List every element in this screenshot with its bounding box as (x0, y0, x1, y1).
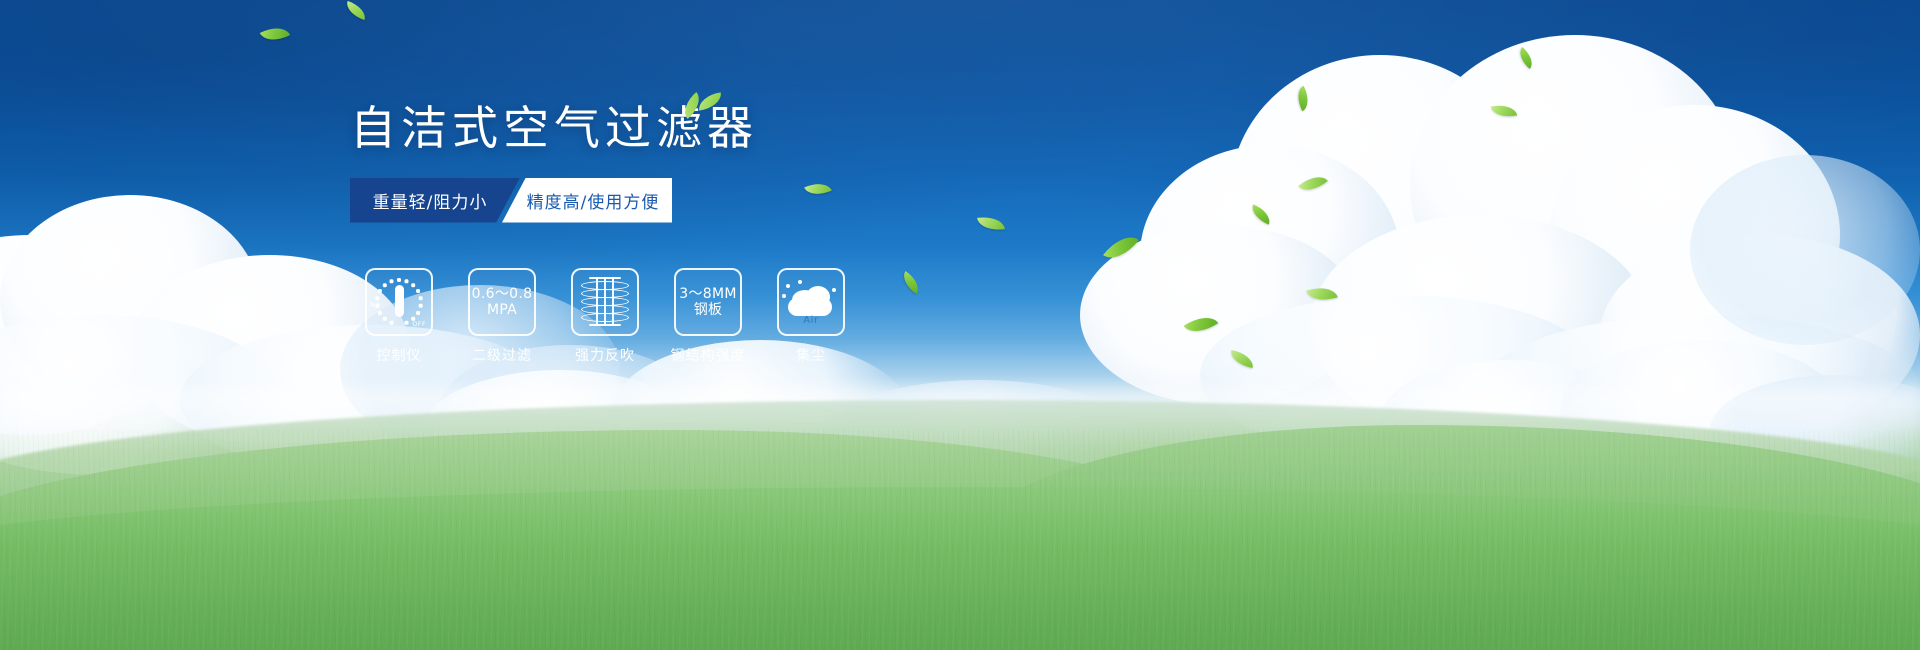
steel-thickness-value: 3〜8MM (679, 286, 736, 302)
flying-leaf-icon (1248, 204, 1273, 224)
flying-leaf-icon (1298, 169, 1328, 197)
flying-leaf-icon (1229, 350, 1255, 368)
feature-item-pressure: 0.6〜0.8 MPA 二级过滤 (460, 268, 544, 365)
product-hero-banner: 自洁式空气过滤器 重量轻/阻力小 精度高/使用方便 (0, 0, 1920, 650)
feature-item-backwash: 强力反吹 (563, 268, 647, 365)
feature-icon-frame: 0.6〜0.8 MPA (468, 268, 536, 336)
horizon-glow (0, 388, 1920, 458)
flying-leaf-icon (1306, 282, 1338, 306)
flying-leaf-icon (1514, 47, 1537, 69)
feature-label: 二级过滤 (460, 345, 544, 365)
feature-item-steel-plate: 3〜8MM 钢板 钢结构强度 (666, 268, 750, 365)
feature-label: 控制仪 (357, 345, 441, 365)
cloud-haze-right (1380, 330, 1920, 500)
flying-leaf-icon (1103, 228, 1139, 266)
tag-weight-resistance: 重量轻/阻力小 (350, 178, 520, 223)
feature-icon-frame (571, 268, 639, 336)
steel-plate-icon: 3〜8MM 钢板 (679, 286, 736, 318)
flying-leaf-icon (898, 271, 924, 294)
gauge-needle-icon (395, 285, 404, 317)
flying-leaf-icon (977, 214, 1005, 232)
pressure-value-icon: 0.6〜0.8 MPA (472, 286, 533, 318)
feature-tag-group: 重量轻/阻力小 精度高/使用方便 (350, 178, 672, 223)
hero-copy-block: 自洁式空气过滤器 重量轻/阻力小 精度高/使用方便 (350, 100, 870, 223)
gauge-label-no: NO (370, 301, 381, 309)
tag-precision-convenience: 精度高/使用方便 (502, 178, 672, 223)
air-label: Air (782, 315, 840, 326)
filter-coil-icon (580, 276, 630, 328)
feature-icon-row: NO OFF 控制仪 0.6〜0.8 MPA 二级过滤 (357, 268, 853, 365)
flying-leaf-icon (1292, 86, 1314, 112)
sky-vignette (0, 0, 1920, 650)
gauge-dial-icon: NO OFF (371, 274, 427, 330)
page-title: 自洁式空气过滤器 (350, 100, 870, 158)
feature-item-control-gauge: NO OFF 控制仪 (357, 268, 441, 365)
feature-icon-frame: Air (777, 268, 845, 336)
leaf-sprig-icon (680, 88, 726, 120)
pressure-range-value: 0.6〜0.8 (472, 286, 533, 302)
hill-background (0, 400, 1920, 550)
feature-icon-frame: NO OFF (365, 268, 433, 336)
hill-foreground (0, 487, 1920, 650)
cloud-cumulus-right (1080, 35, 1920, 455)
dust-cloud-icon: Air (782, 280, 840, 324)
flying-leaf-icon (1184, 309, 1218, 340)
gauge-label-off: OFF (412, 320, 426, 328)
flying-leaf-icon (344, 1, 369, 20)
feature-label: 集尘 (769, 345, 853, 365)
flying-leaf-icon (260, 21, 290, 47)
pressure-unit-value: MPA (472, 302, 533, 318)
hill-midground-left (0, 430, 1220, 650)
flying-leaf-icon (1491, 102, 1517, 121)
grass-texture (0, 430, 1920, 650)
steel-material-value: 钢板 (679, 302, 736, 318)
feature-icon-frame: 3〜8MM 钢板 (674, 268, 742, 336)
feature-label: 强力反吹 (563, 345, 647, 365)
feature-item-dust-collection: Air 集尘 (769, 268, 853, 365)
hill-midground-right (980, 425, 1920, 650)
feature-label: 钢结构强度 (666, 345, 750, 365)
